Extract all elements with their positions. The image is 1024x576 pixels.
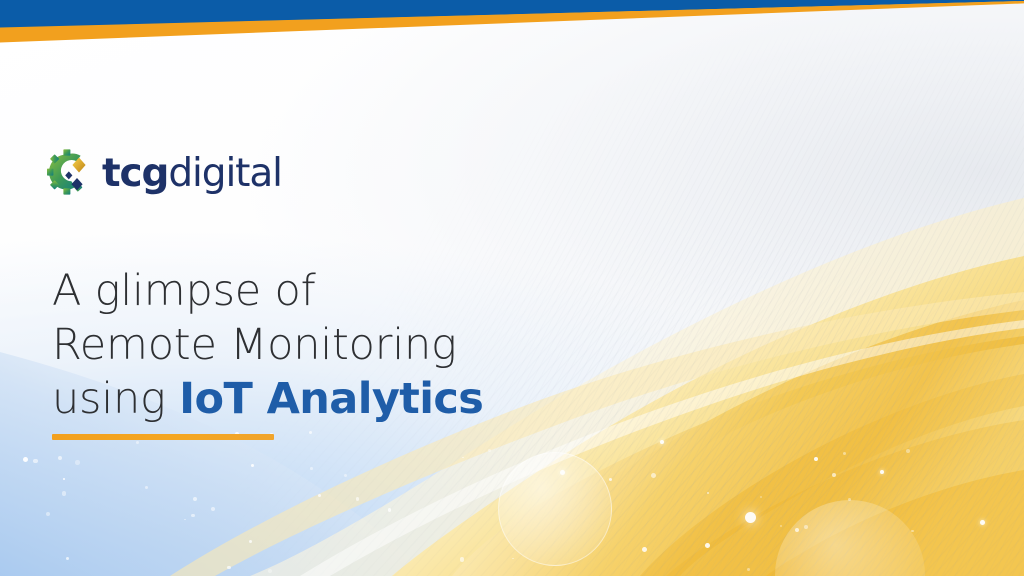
headline-block: A glimpse of Remote Monitoring using IoT… xyxy=(52,264,612,426)
gear-diamond-mark xyxy=(44,148,90,198)
logo-word-tcg: tcg xyxy=(102,151,168,196)
sparkle-dot-large xyxy=(560,470,565,475)
brand-logo: tcgdigital xyxy=(44,148,282,198)
sparkle-dot xyxy=(705,543,710,548)
sparkle-dot-large xyxy=(980,520,985,525)
sparkle-dot xyxy=(310,467,313,470)
sparkle-dot xyxy=(33,459,38,464)
sparkle-dot xyxy=(193,497,197,501)
sparkle-dot xyxy=(906,449,910,453)
sparkle-dot xyxy=(651,473,656,478)
title-slide: tcgdigital A glimpse of Remote Monitorin… xyxy=(0,0,1024,576)
sparkle-dot xyxy=(780,525,783,528)
sparkle-dot xyxy=(63,478,65,480)
headline-line-2: Remote Monitoring xyxy=(52,318,612,372)
sparkle-dot xyxy=(356,497,360,501)
sparkle-dot xyxy=(46,512,50,516)
sparkle-dot xyxy=(227,566,230,569)
sparkle-dot xyxy=(309,431,312,434)
sparkle-dot xyxy=(249,540,253,544)
sparkle-dot xyxy=(251,464,254,467)
sparkle-dot xyxy=(760,496,762,498)
sparkle-dot xyxy=(75,460,80,465)
sparkle-dot xyxy=(268,569,272,573)
sparkle-dot xyxy=(843,452,846,455)
sparkle-dot xyxy=(460,557,465,562)
sparkle-dot xyxy=(747,568,750,571)
sparkle-dot xyxy=(388,508,392,512)
header-ribbon xyxy=(0,0,1024,70)
sparkle-dot-large xyxy=(745,512,756,523)
sparkle-dot xyxy=(62,491,67,496)
sparkle-dot xyxy=(211,507,215,511)
sparkle-dot xyxy=(58,456,62,460)
sparkle-dot xyxy=(832,473,836,477)
sparkle-dot xyxy=(23,457,28,462)
sparkle-dot xyxy=(609,478,612,481)
headline-line-1: A glimpse of xyxy=(52,264,612,318)
accent-underline-rule xyxy=(52,434,274,440)
sparkle-dot xyxy=(145,486,149,490)
sparkle-dot xyxy=(66,557,69,560)
logo-wordmark: tcgdigital xyxy=(102,154,282,193)
headline-line-3: using IoT Analytics xyxy=(52,372,612,426)
sparkle-dot-large xyxy=(880,470,884,474)
sparkle-dot xyxy=(707,492,709,494)
headline-line-3-prefix: using xyxy=(52,374,179,424)
sparkle-dot xyxy=(136,441,139,444)
sparkle-dot xyxy=(795,528,799,532)
sparkle-dot xyxy=(191,514,195,518)
sparkle-dot xyxy=(804,525,808,529)
sparkle-dot xyxy=(911,530,914,533)
sparkle-dot xyxy=(318,494,321,497)
sparkle-dot xyxy=(488,449,492,453)
logo-word-digital: digital xyxy=(168,151,282,196)
sparkle-dot xyxy=(344,474,347,477)
sparkle-dot-large xyxy=(660,440,664,444)
sparkle-dot xyxy=(462,457,464,459)
sparkle-dot xyxy=(184,519,186,521)
sparkle-dot xyxy=(642,547,647,552)
sparkle-dot xyxy=(848,498,851,501)
headline-line-3-accent: IoT Analytics xyxy=(179,374,483,424)
sparkle-dot xyxy=(512,558,514,560)
sparkle-dot xyxy=(814,457,818,461)
